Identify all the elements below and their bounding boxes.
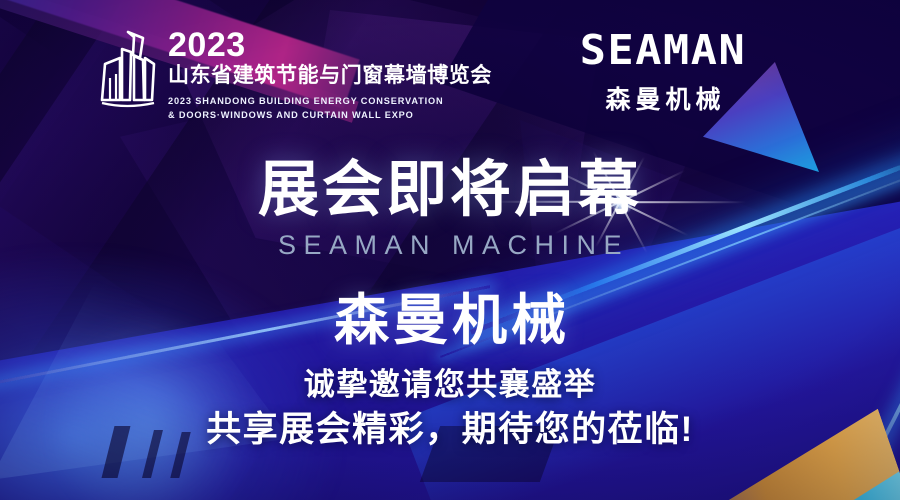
expo-logo-text: 2023 山东省建筑节能与门窗幕墙博览会 2023 SHANDONG BUILD… [168,28,492,123]
headline-group: 展会即将启幕 SEAMAN MACHINE 森曼机械 [0,158,900,355]
invitation-group: 诚挚邀请您共襄盛举 共享展会精彩，期待您的莅临! [0,366,900,451]
expo-title-en-line1: 2023 SHANDONG BUILDING ENERGY CONSERVATI… [168,95,492,109]
expo-year: 2023 [168,30,492,61]
expo-title-en-line2: & DOORS·WINDOWS AND CURTAIN WALL EXPO [168,109,492,123]
headline-main: 展会即将启幕 [0,158,900,221]
headline-brand-cn: 森曼机械 [0,275,900,355]
seaman-brand-logo: SEAMAN 森曼机械 [556,30,770,116]
invitation-line-2: 共享展会精彩，期待您的莅临! [0,409,900,451]
expo-logo: 2023 山东省建筑节能与门窗幕墙博览会 2023 SHANDONG BUILD… [96,28,492,123]
seaman-name-cn: 森曼机械 [556,80,770,116]
building-skyline-icon [96,28,158,112]
seaman-wordmark: SEAMAN [550,30,777,71]
poster-content: 2023 山东省建筑节能与门窗幕墙博览会 2023 SHANDONG BUILD… [0,0,900,500]
headline-subtitle-en: SEAMAN MACHINE [0,230,900,261]
expo-title-cn: 山东省建筑节能与门窗幕墙博览会 [168,63,492,89]
promo-poster: 2023 山东省建筑节能与门窗幕墙博览会 2023 SHANDONG BUILD… [0,0,900,500]
invitation-line-1: 诚挚邀请您共襄盛举 [0,366,900,404]
